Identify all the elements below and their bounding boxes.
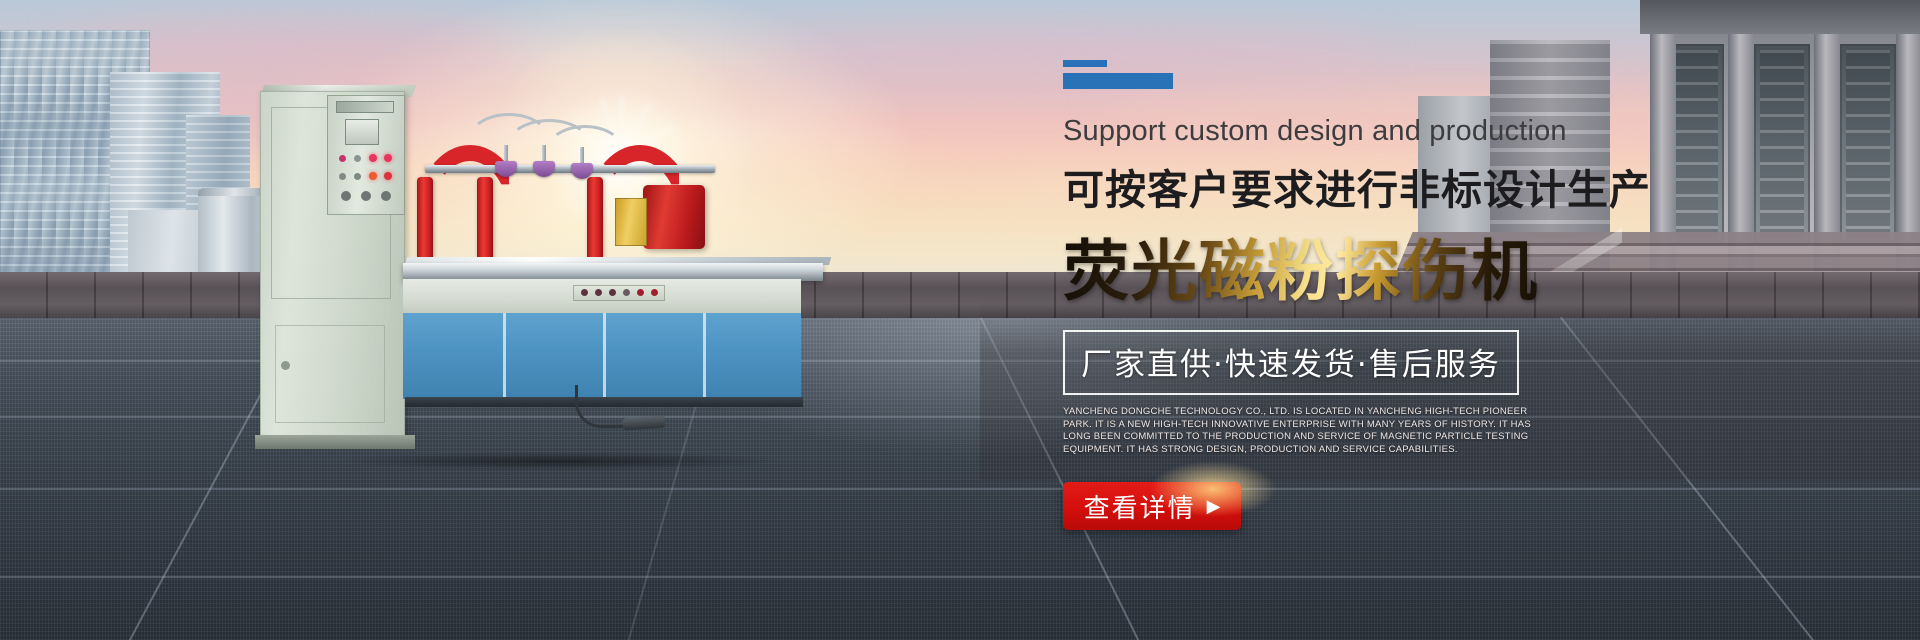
indicator-lamp xyxy=(369,154,377,162)
building-window xyxy=(1840,44,1896,244)
control-knob xyxy=(361,191,371,201)
red-clamp-post xyxy=(417,177,433,269)
body-panel-seam xyxy=(703,313,706,399)
red-clamp-post xyxy=(587,177,603,269)
chinese-subtitle: 可按客户要求进行非标设计生产 xyxy=(1063,156,1623,216)
indicator-lamp xyxy=(384,172,392,180)
foot-pedal xyxy=(623,416,666,431)
chinese-headline: 荧光磁粉探伤机 xyxy=(1063,218,1623,314)
panel-button xyxy=(637,289,644,296)
building-window xyxy=(1668,44,1724,244)
accent-bar-small xyxy=(1063,60,1107,67)
slogan-text: 厂家直供·快速发货·售后服务 xyxy=(1081,339,1501,384)
flaw-detector-machine xyxy=(255,85,855,460)
accent-bar-large xyxy=(1063,73,1173,89)
control-switch xyxy=(354,173,361,180)
control-switch xyxy=(354,155,361,162)
red-clamp-post xyxy=(477,177,493,269)
control-switch xyxy=(339,155,346,162)
indicator-lamp xyxy=(369,172,377,180)
red-clamp-head xyxy=(643,185,705,249)
yellow-terminal-box xyxy=(615,198,647,246)
control-switch xyxy=(339,173,346,180)
panel-button xyxy=(595,289,602,296)
panel-button xyxy=(581,289,588,296)
view-details-button[interactable]: 查看详情 ▶ xyxy=(1063,482,1241,530)
cabinet-handle xyxy=(281,361,290,370)
body-panel-seam xyxy=(503,313,506,399)
hose xyxy=(547,125,623,173)
control-knob xyxy=(341,191,351,201)
panel-button xyxy=(623,289,630,296)
building-window xyxy=(1754,44,1810,244)
panel-button xyxy=(609,289,616,296)
banner-text-block: Support custom design and production 可按客… xyxy=(1063,60,1623,530)
control-display xyxy=(336,101,394,113)
company-description: YANCHENG DONGCHE TECHNOLOGY CO., LTD. IS… xyxy=(1063,406,1541,456)
indicator-lamp xyxy=(384,154,392,162)
arrow-right-icon: ▶ xyxy=(1207,497,1221,515)
cabinet-door xyxy=(275,325,385,423)
promo-banner: Support custom design and production 可按客… xyxy=(0,0,1920,640)
control-knob xyxy=(381,191,391,201)
slogan-box: 厂家直供·快速发货·售后服务 xyxy=(1063,330,1519,395)
view-details-label: 查看详情 xyxy=(1084,488,1196,525)
panel-button xyxy=(651,289,658,296)
english-tagline: Support custom design and production xyxy=(1063,115,1623,148)
cabinet-base xyxy=(255,435,415,449)
building-roof xyxy=(1640,0,1920,34)
analog-meter xyxy=(345,119,379,145)
